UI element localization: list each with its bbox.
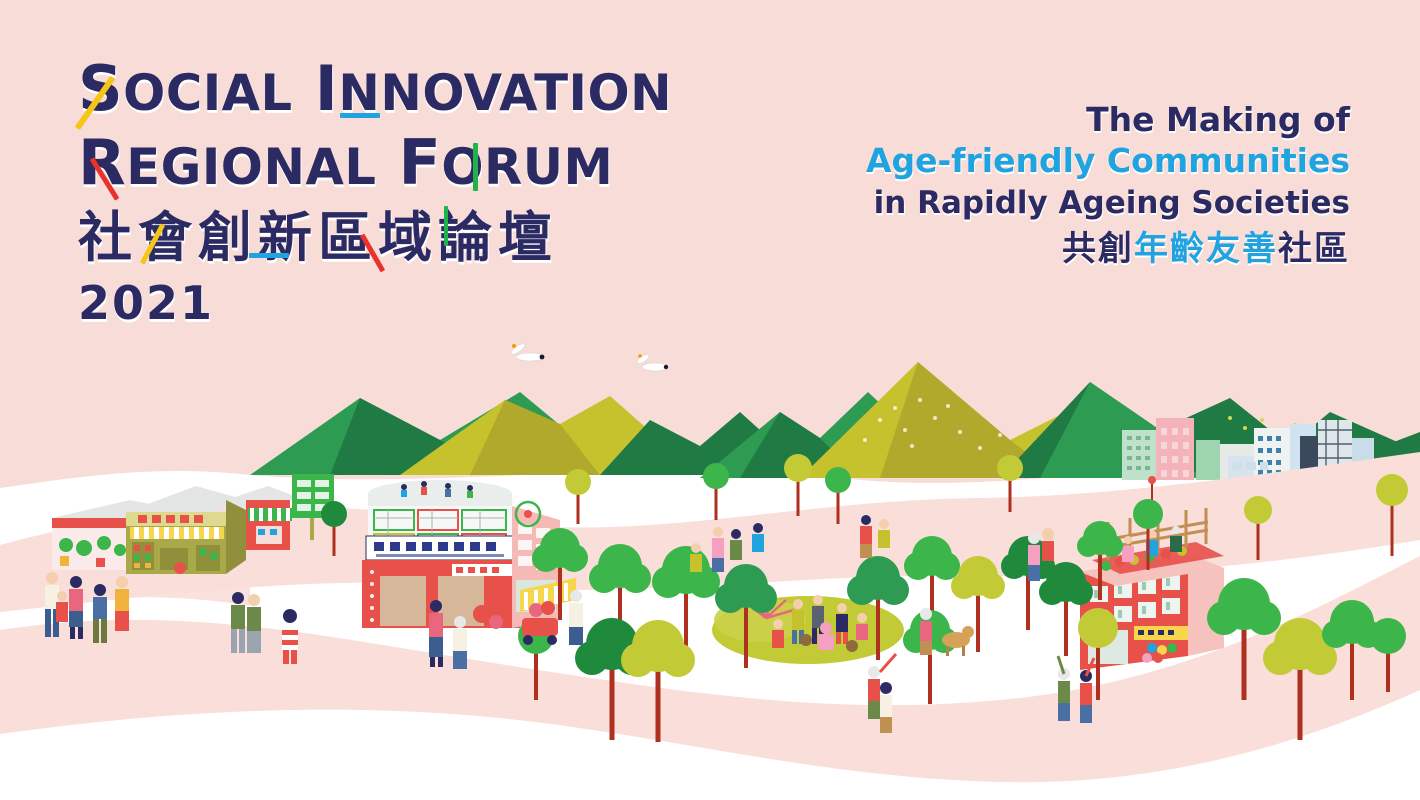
title-year: 2021 xyxy=(78,278,818,328)
subtitle-chinese: 共創年齡友善社區 xyxy=(830,226,1350,272)
person xyxy=(712,527,724,572)
person xyxy=(690,543,702,572)
balloon xyxy=(473,605,491,623)
accent-stroke-blue-2-icon xyxy=(249,253,289,258)
person xyxy=(569,590,583,645)
person xyxy=(752,523,764,552)
subtitle-line-2: Age-friendly Communities xyxy=(830,140,1350,182)
subtitle-zh-suffix: 社區 xyxy=(1278,229,1350,269)
person xyxy=(247,594,261,653)
balloon xyxy=(489,615,503,629)
person xyxy=(860,515,872,558)
poster-subtitle-block: The Making of Age-friendly Communities i… xyxy=(830,100,1350,272)
person xyxy=(1028,532,1040,581)
person xyxy=(56,591,68,622)
accent-stroke-green-icon xyxy=(473,143,478,191)
person xyxy=(453,616,467,669)
accent-stroke-blue-icon xyxy=(340,113,380,118)
title-line-1: SOCIAL INNOVATION xyxy=(78,58,818,124)
person xyxy=(730,529,742,560)
awning-green xyxy=(248,508,292,521)
awning xyxy=(130,527,224,539)
subtitle-line-1: The Making of xyxy=(830,100,1350,140)
subtitle-zh-prefix: 共創 xyxy=(1062,229,1134,269)
subtitle-line-3: in Rapidly Ageing Societies xyxy=(830,182,1350,224)
poster-title-block: SOCIAL INNOVATION REGIONAL FORUM 社會創新區域論… xyxy=(78,58,818,328)
subtitle-zh-highlight: 年齡友善 xyxy=(1134,229,1278,269)
title-line-2: REGIONAL FORUM xyxy=(78,130,818,200)
poster-canvas: SOCIAL INNOVATION REGIONAL FORUM 社會創新區域論… xyxy=(0,0,1420,800)
person xyxy=(878,519,890,548)
person xyxy=(115,576,129,631)
accent-stroke-green-2-icon xyxy=(444,206,448,246)
person xyxy=(880,682,892,733)
title-chinese: 社會創新區域論壇 xyxy=(78,208,818,268)
person xyxy=(1042,528,1054,561)
